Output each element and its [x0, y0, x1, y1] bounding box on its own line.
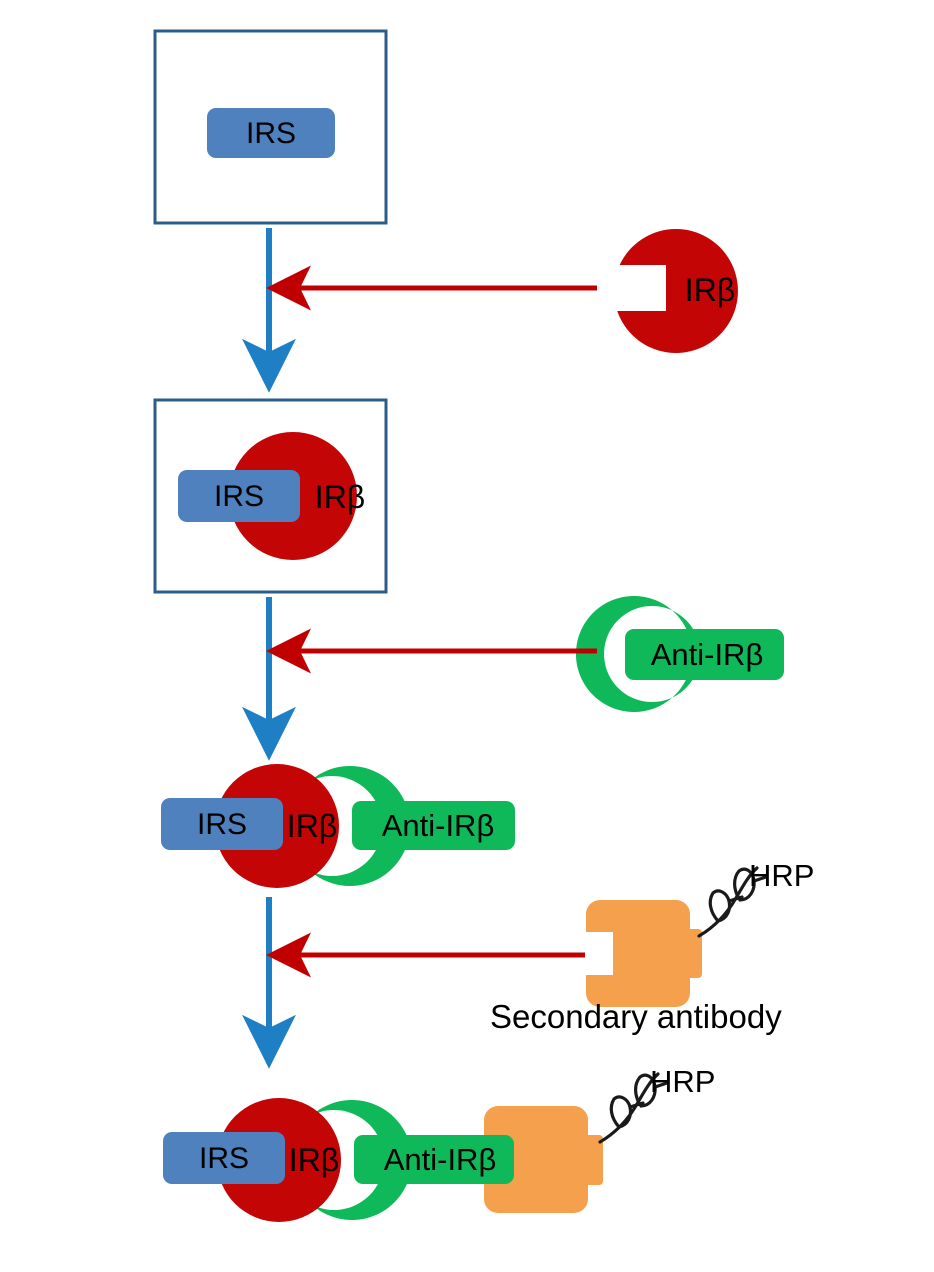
anti-irbeta-label-3: Anti-IRβ — [384, 1142, 497, 1177]
diagram-canvas: IRS IRβ IRS IRβ Anti-IRβ — [0, 0, 934, 1272]
reagent-secondary-antibody[interactable]: HRP Secondary antibody — [490, 858, 814, 1035]
step-3-complex[interactable]: IRS IRβ Anti-IRβ — [161, 764, 515, 888]
irbeta-notch-cutout-1 — [600, 265, 666, 311]
irs-label-1: IRS — [246, 117, 296, 150]
reagent-irbeta[interactable]: IRβ — [600, 229, 738, 353]
secondary-antibody-label: Secondary antibody — [490, 998, 782, 1035]
anti-irbeta-label-2: Anti-IRβ — [382, 808, 495, 843]
hrp-label-2: HRP — [650, 1064, 715, 1099]
irs-label-4: IRS — [199, 1142, 249, 1175]
irs-label-2: IRS — [214, 480, 264, 513]
anti-irbeta-label-1: Anti-IRβ — [651, 637, 764, 672]
reagent-anti-irbeta[interactable]: Anti-IRβ — [576, 596, 784, 712]
irbeta-label-3: IRβ — [287, 808, 337, 844]
step-4-complex[interactable]: IRS IRβ Anti-IRβ HRP — [163, 1064, 715, 1222]
secondary-notched-body-1 — [586, 900, 690, 1007]
irbeta-label-1: IRβ — [685, 272, 735, 308]
irbeta-label-4: IRβ — [289, 1142, 339, 1178]
step-1-well[interactable]: IRS — [155, 31, 386, 223]
elisa-schematic-svg: IRS IRβ IRS IRβ Anti-IRβ — [0, 0, 934, 1272]
step-2-well[interactable]: IRS IRβ — [155, 400, 386, 592]
irbeta-label-2: IRβ — [315, 479, 365, 515]
irs-label-3: IRS — [197, 808, 247, 841]
hrp-label-1: HRP — [749, 858, 814, 893]
